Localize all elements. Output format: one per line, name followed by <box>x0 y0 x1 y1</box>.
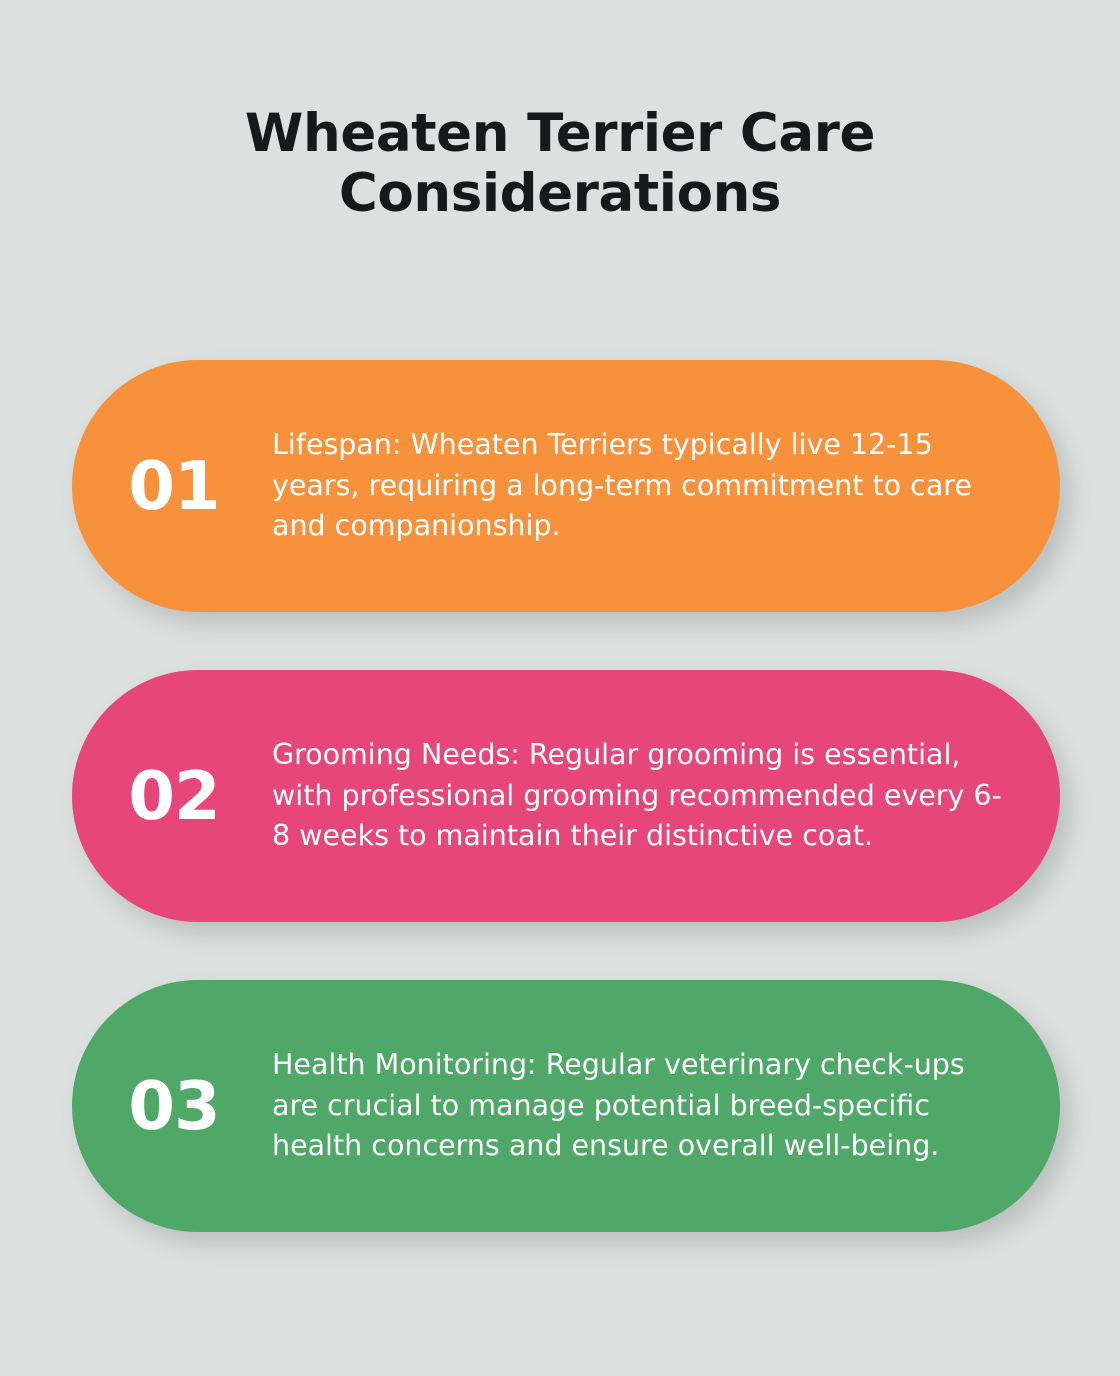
card-body-text: Lifespan: Wheaten Terriers typically liv… <box>272 425 1060 546</box>
list-item: 02 Grooming Needs: Regular grooming is e… <box>72 670 1060 922</box>
card-number-badge: 01 <box>72 453 272 520</box>
card-body-text: Grooming Needs: Regular grooming is esse… <box>272 735 1060 856</box>
list-item: 01 Lifespan: Wheaten Terriers typically … <box>72 360 1060 612</box>
card-body-text: Health Monitoring: Regular veterinary ch… <box>272 1045 1060 1166</box>
card-list: 01 Lifespan: Wheaten Terriers typically … <box>72 360 1060 1232</box>
page-title-line-1: Wheaten Terrier Care <box>0 104 1120 164</box>
list-item: 03 Health Monitoring: Regular veterinary… <box>72 980 1060 1232</box>
page-title: Wheaten Terrier Care Considerations <box>0 104 1120 225</box>
page-title-line-2: Considerations <box>0 164 1120 224</box>
infographic-page: Wheaten Terrier Care Considerations 01 L… <box>0 0 1120 1376</box>
card-number-badge: 02 <box>72 763 272 830</box>
card-number-badge: 03 <box>72 1073 272 1140</box>
